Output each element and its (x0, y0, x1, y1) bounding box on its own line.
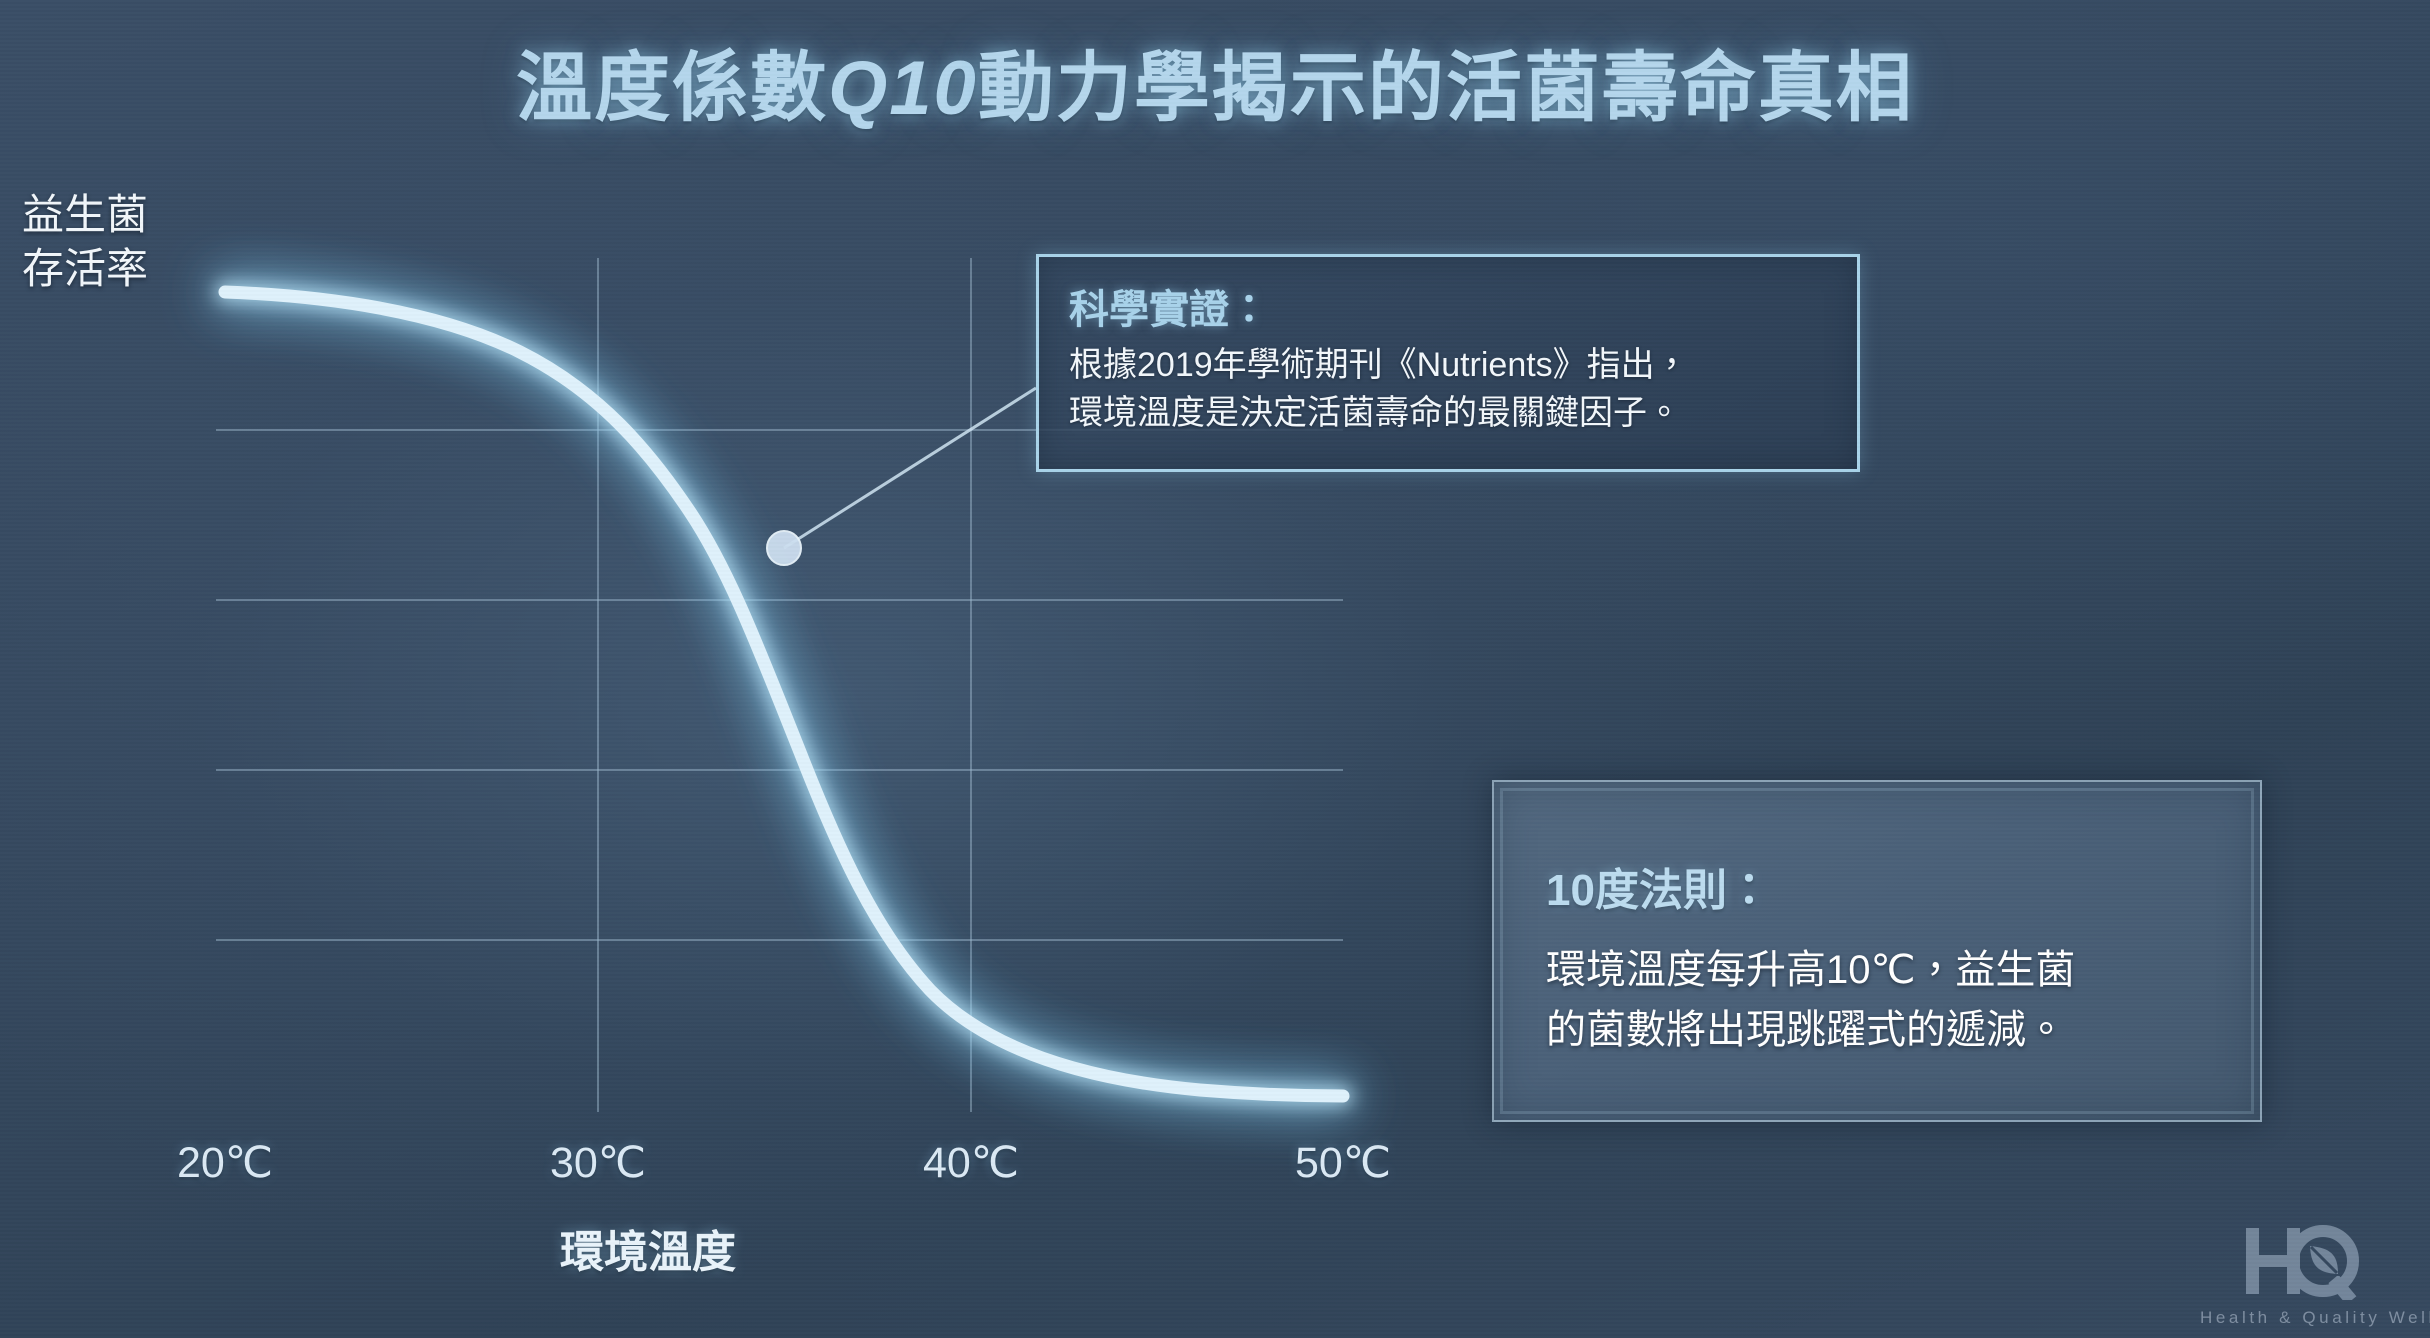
inflection-marker[interactable] (767, 531, 801, 565)
survival-curve-chart: 益生菌存活率 20℃ 30℃ 40℃ 50℃ 環境溫度 (0, 0, 1600, 1338)
x-tick-20c: 20℃ (177, 1138, 273, 1188)
rule-box-heading: 10度法則： (1546, 854, 2220, 918)
y-axis-label-line2: 存活率 (22, 245, 148, 292)
x-tick-40c: 40℃ (923, 1138, 1019, 1188)
hq-logo-svg (2244, 1222, 2362, 1300)
y-axis-label-line1: 益生菌 (22, 191, 148, 238)
science-box-line1: 根據2019年學術期刊《Nutrients》指出， (1069, 341, 1829, 389)
x-axis-label: 環境溫度 (560, 1216, 736, 1280)
x-tick-50c: 50℃ (1295, 1138, 1391, 1188)
x-tick-30c: 30℃ (550, 1138, 646, 1188)
brand-logo: Health & Quality Well (2200, 1222, 2406, 1328)
rule-box-line1: 環境溫度每升高10℃，益生菌 (1546, 940, 2220, 1000)
ten-degree-rule-box: 10度法則： 環境溫度每升高10℃，益生菌 的菌數將出現跳躍式的遞減。 (1492, 780, 2262, 1122)
science-box-line2: 環境溫度是決定活菌壽命的最關鍵因子。 (1069, 389, 1829, 437)
slide-canvas: 溫度係數Q10動力學揭示的活菌壽命真相 (0, 0, 2430, 1338)
hq-monogram-icon (2200, 1222, 2406, 1305)
science-evidence-box: 科學實證： 根據2019年學術期刊《Nutrients》指出， 環境溫度是決定活… (1036, 254, 1860, 472)
y-axis-label: 益生菌存活率 (22, 188, 148, 296)
callout-leader-line (784, 388, 1036, 548)
rule-box-line2: 的菌數將出現跳躍式的遞減。 (1546, 1000, 2220, 1060)
brand-tagline: Health & Quality Well (2200, 1308, 2406, 1328)
science-box-heading: 科學實證： (1069, 277, 1829, 335)
